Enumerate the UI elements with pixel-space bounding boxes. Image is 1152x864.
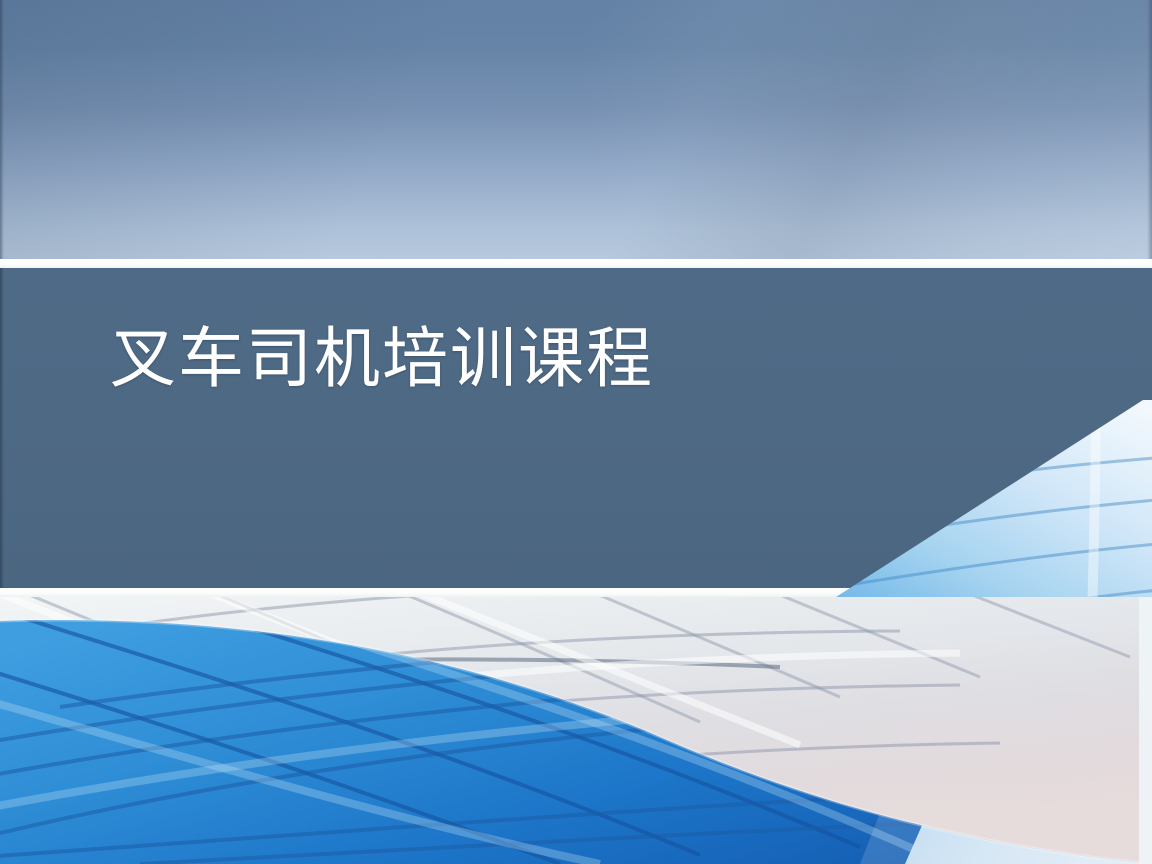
top-gradient-band [0,0,1152,259]
title-band [0,268,1152,588]
top-band-left-edge [0,0,4,259]
divider-lower [0,588,1152,597]
divider-upper [0,259,1152,268]
title-band-left-edge [0,268,4,588]
slide-title: 叉车司机培训课程 [110,322,1010,396]
mesh-svg [0,597,1152,864]
abstract-curved-mesh-graphic [0,597,1152,864]
mesh-right-strip [1139,597,1152,864]
top-band-right-edge [1147,0,1152,259]
slide-canvas: 叉车司机培训课程 [0,0,1152,864]
